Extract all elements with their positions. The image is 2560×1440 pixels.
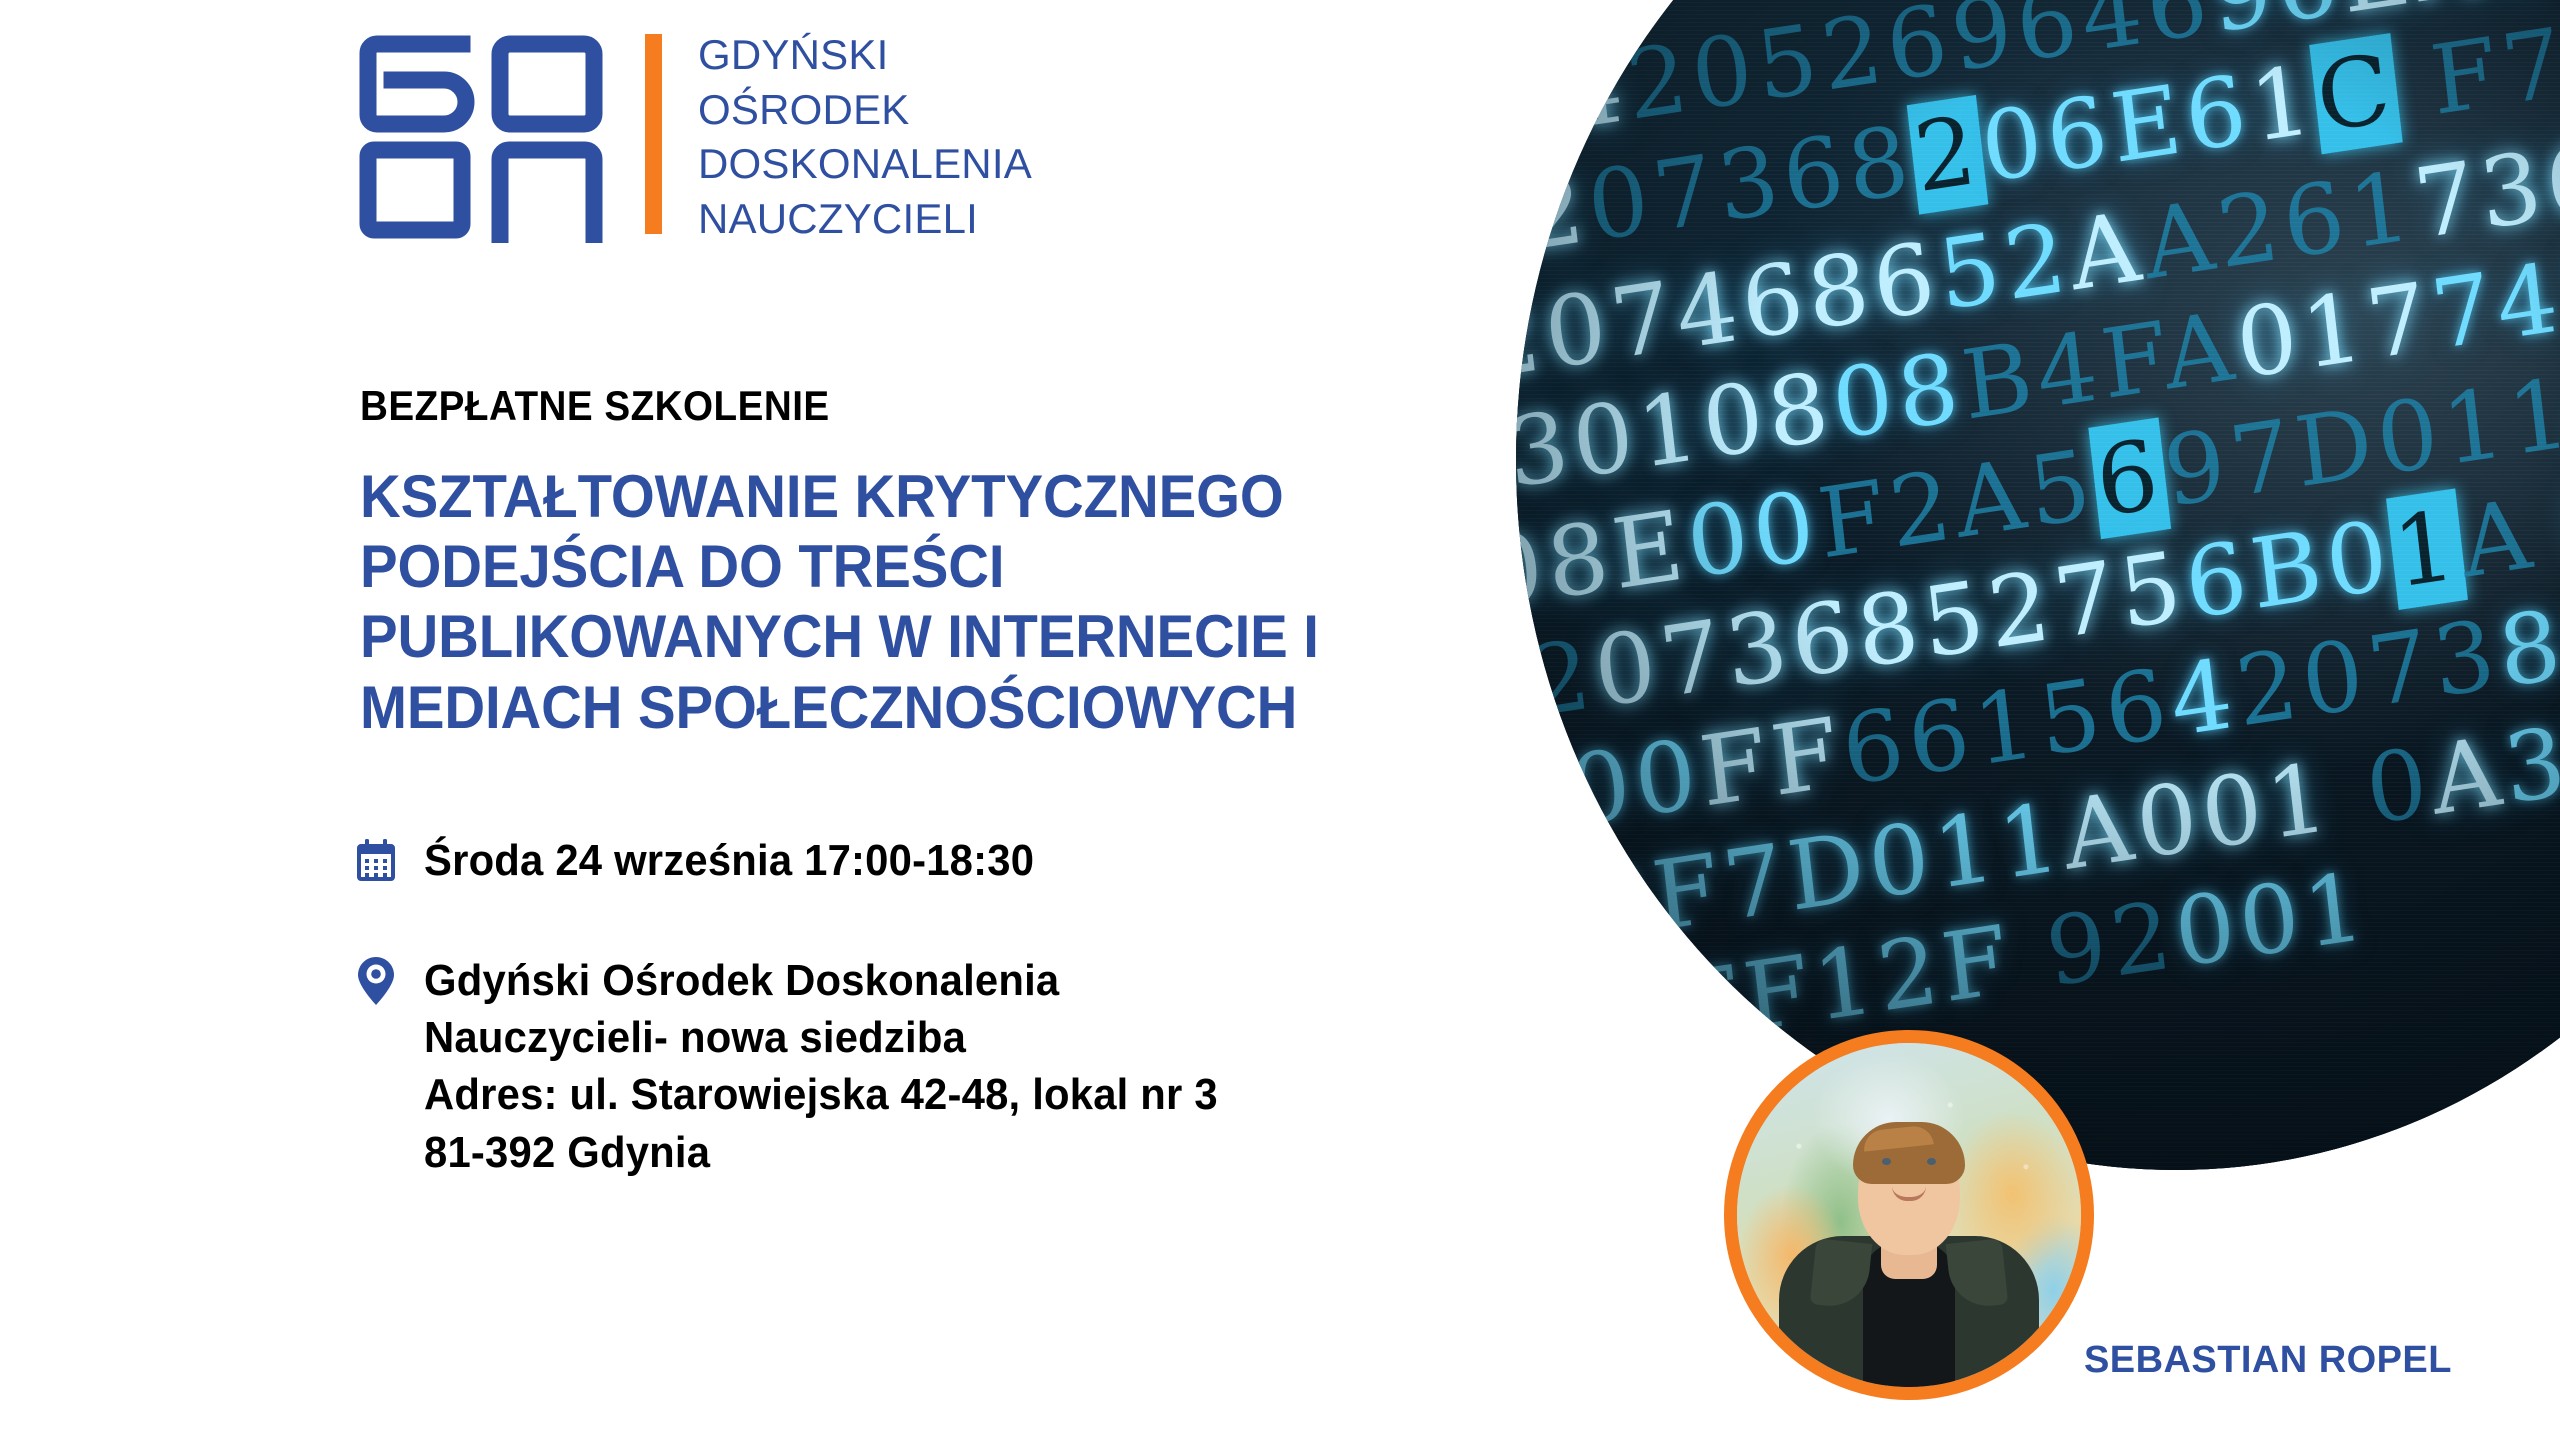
speaker-portrait xyxy=(1737,1043,2081,1387)
map-pin-icon xyxy=(357,956,395,1006)
calendar-icon xyxy=(356,838,396,882)
event-title-line-1: KSZTAŁTOWANIE KRYTYCZNEGO xyxy=(360,462,1516,532)
event-location-line-2: Nauczycieli- nowa siedziba xyxy=(424,1009,1218,1066)
event-location-line-1: Gdyński Ośrodek Doskonalenia xyxy=(424,952,1218,1009)
event-date-row: Środa 24 września 17:00-18:30 xyxy=(352,832,1066,889)
event-title-line-4: MEDIACH SPOŁECZNOŚCIOWYCH xyxy=(360,673,1516,743)
event-poster: 00A16C20677261746386651 2202E6F616368657… xyxy=(0,0,2560,1440)
logo-wordmark: GDYŃSKI OŚRODEK DOSKONALENIA NAUCZYCIELI xyxy=(698,28,1032,246)
event-date-text: Środa 24 września 17:00-18:30 xyxy=(424,832,1034,889)
event-location-line-3: Adres: ul. Starowiejska 42-48, lokal nr … xyxy=(424,1066,1218,1123)
godn-logo-mark xyxy=(352,28,610,243)
event-date-text-wrap: Środa 24 września 17:00-18:30 xyxy=(424,832,1034,889)
logo-word-line-3: DOSKONALENIA xyxy=(698,137,1032,192)
portrait-hair xyxy=(1853,1122,1965,1184)
event-title: KSZTAŁTOWANIE KRYTYCZNEGO PODEJŚCIA DO T… xyxy=(360,462,1516,743)
event-title-line-3: PUBLIKOWANYCH W INTERNECIE I xyxy=(360,602,1516,672)
event-title-line-2: PODEJŚCIA DO TREŚCI xyxy=(360,532,1516,602)
logo-word-line-4: NAUCZYCIELI xyxy=(698,192,1032,247)
logo-divider-bar xyxy=(645,34,662,234)
event-location-text-wrap: Gdyński Ośrodek Doskonalenia Nauczycieli… xyxy=(424,952,1218,1181)
event-location-line-4: 81-392 Gdynia xyxy=(424,1124,1218,1181)
hex-code-rows: 00A16C20677261746386651 2202E6F616368657… xyxy=(1516,0,2560,1170)
logo-word-line-1: GDYŃSKI xyxy=(698,28,1032,83)
free-training-kicker: BEZPŁATNE SZKOLENIE xyxy=(360,382,830,430)
logo-word-line-2: OŚRODEK xyxy=(698,83,1032,138)
speaker-avatar xyxy=(1724,1030,2094,1400)
calendar-icon-wrap xyxy=(352,832,400,882)
godn-logo: GDYŃSKI OŚRODEK DOSKONALENIA NAUCZYCIELI xyxy=(352,28,1032,246)
hex-code-image: 00A16C20677261746386651 2202E6F616368657… xyxy=(1516,0,2560,1170)
event-location-row: Gdyński Ośrodek Doskonalenia Nauczycieli… xyxy=(352,952,1260,1181)
map-pin-icon-wrap xyxy=(352,952,400,1006)
hex-code-backdrop: 00A16C20677261746386651 2202E6F616368657… xyxy=(1516,0,2560,1170)
speaker-name: SEBASTIAN ROPEL xyxy=(2084,1339,2452,1382)
